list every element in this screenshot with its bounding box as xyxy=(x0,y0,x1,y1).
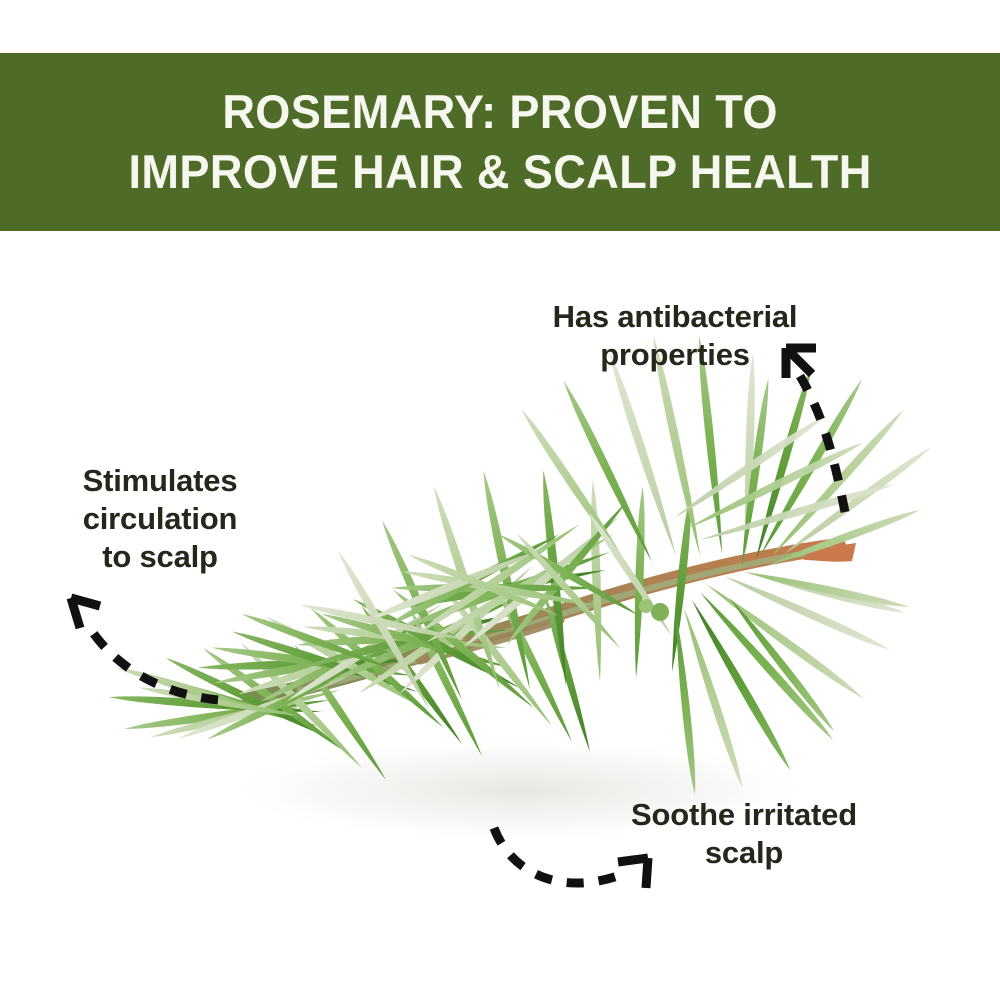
callout-label-soothe: Soothe irritated scalp xyxy=(596,796,892,872)
callout-label-circulation: Stimulates circulation to scalp xyxy=(38,462,282,575)
arrow-circulation xyxy=(71,598,218,700)
infographic-root: ROSEMARY: PROVEN TO IMPROVE HAIR & SCALP… xyxy=(0,0,1000,1000)
callout-label-antibacterial: Has antibacterial properties xyxy=(500,298,850,374)
header-banner: ROSEMARY: PROVEN TO IMPROVE HAIR & SCALP… xyxy=(0,53,1000,231)
page-title: ROSEMARY: PROVEN TO IMPROVE HAIR & SCALP… xyxy=(105,82,894,202)
